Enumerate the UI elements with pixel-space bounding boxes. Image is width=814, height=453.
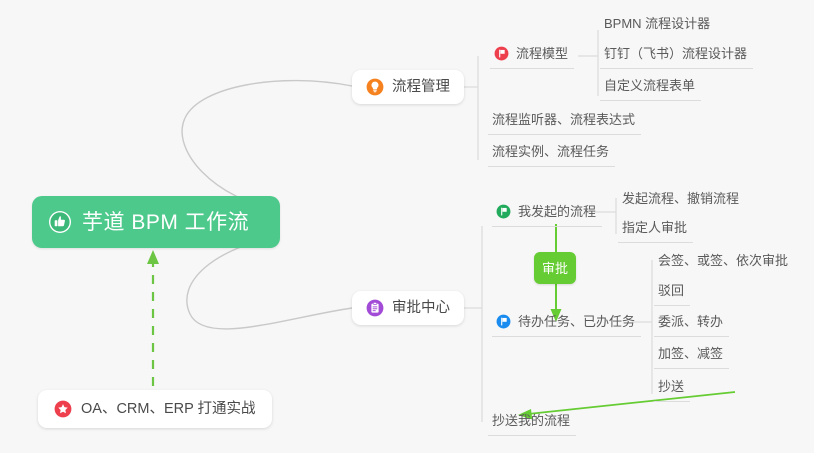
node-cc[interactable]: 抄送 xyxy=(654,372,690,402)
node-cc-my-process[interactable]: 抄送我的流程 xyxy=(488,406,576,436)
branch-approval-center[interactable]: 审批中心 xyxy=(352,291,464,325)
node-bpmn-designer[interactable]: BPMN 流程设计器 xyxy=(600,9,716,39)
flag-red-icon xyxy=(494,46,509,61)
node-label: 流程实例、流程任务 xyxy=(492,145,609,158)
wire-root-to-process xyxy=(182,81,352,210)
node-label: 我发起的流程 xyxy=(518,205,596,218)
node-dingtalk-designer[interactable]: 钉钉（飞书）流程设计器 xyxy=(600,39,753,69)
oa-card-label: OA、CRM、ERP 打通实战 xyxy=(81,402,256,417)
node-label: 流程模型 xyxy=(516,47,568,60)
badge-label: 审批 xyxy=(542,262,568,275)
node-delegate-transfer[interactable]: 委派、转办 xyxy=(654,307,729,337)
flag-blue-icon xyxy=(496,314,511,329)
oa-crm-erp-card[interactable]: OA、CRM、ERP 打通实战 xyxy=(38,390,272,428)
node-process-model[interactable]: 流程模型 xyxy=(490,39,574,69)
lightbulb-icon xyxy=(366,78,384,96)
node-label: 委派、转办 xyxy=(658,315,723,328)
node-my-started-process[interactable]: 我发起的流程 xyxy=(492,197,602,227)
root-node[interactable]: 芋道 BPM 工作流 xyxy=(32,196,280,248)
node-reject[interactable]: 驳回 xyxy=(654,276,690,306)
node-label: 抄送 xyxy=(658,380,684,393)
node-label: BPMN 流程设计器 xyxy=(604,17,710,30)
branch-label: 审批中心 xyxy=(392,301,450,316)
node-todo-done-tasks[interactable]: 待办任务、已办任务 xyxy=(492,307,641,337)
node-label: 自定义流程表单 xyxy=(604,79,695,92)
node-label: 抄送我的流程 xyxy=(492,414,570,427)
node-countersign[interactable]: 会签、或签、依次审批 xyxy=(654,246,794,276)
branch-label: 流程管理 xyxy=(392,80,450,95)
mindmap-canvas: 芋道 BPM 工作流 流程管理 流程模型 BPMN 流程设计器 钉钉（飞书）流程 xyxy=(0,0,814,453)
arrow-oa-to-root xyxy=(147,250,159,386)
approval-flow-badge: 审批 xyxy=(534,252,576,284)
root-label: 芋道 BPM 工作流 xyxy=(82,212,249,233)
node-custom-form[interactable]: 自定义流程表单 xyxy=(600,71,701,101)
node-process-listener[interactable]: 流程监听器、流程表达式 xyxy=(488,105,641,135)
flag-green-icon xyxy=(496,204,511,219)
wire-root-to-approval xyxy=(187,236,352,329)
node-add-remove-sign[interactable]: 加签、减签 xyxy=(654,339,729,369)
node-label: 待办任务、已办任务 xyxy=(518,315,635,328)
clipboard-icon xyxy=(366,299,384,317)
node-label: 流程监听器、流程表达式 xyxy=(492,113,635,126)
star-icon xyxy=(54,400,72,418)
node-label: 指定人审批 xyxy=(622,221,687,234)
node-label: 发起流程、撤销流程 xyxy=(622,192,739,205)
node-process-instance[interactable]: 流程实例、流程任务 xyxy=(488,137,615,167)
node-assigned-approval[interactable]: 指定人审批 xyxy=(618,213,693,243)
thumbs-up-icon xyxy=(48,210,72,234)
branch-process-management[interactable]: 流程管理 xyxy=(352,70,464,104)
node-label: 钉钉（飞书）流程设计器 xyxy=(604,47,747,60)
node-label: 驳回 xyxy=(658,284,684,297)
node-start-cancel-process[interactable]: 发起流程、撤销流程 xyxy=(618,184,745,214)
node-label: 加签、减签 xyxy=(658,347,723,360)
node-label: 会签、或签、依次审批 xyxy=(658,254,788,267)
